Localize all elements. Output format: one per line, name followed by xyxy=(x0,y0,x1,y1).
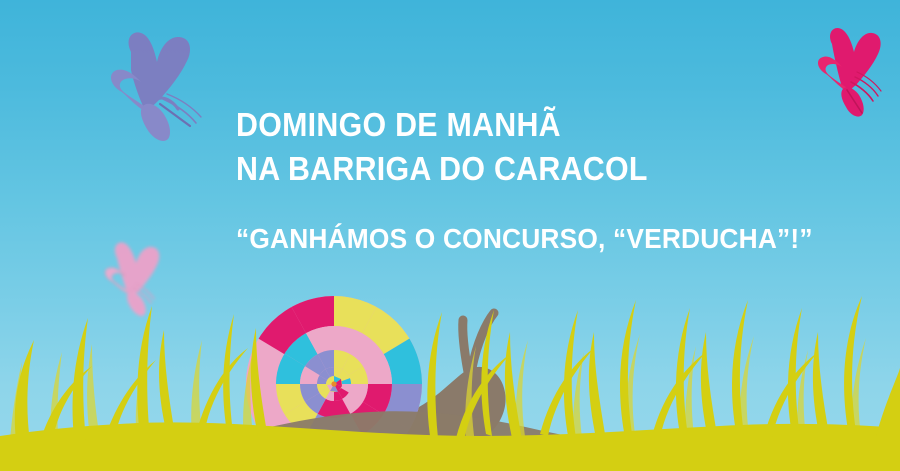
snail-illustration xyxy=(236,313,506,471)
snail-antenna-right xyxy=(472,313,494,368)
headline-line-2: NA BARRIGA DO CARACOL xyxy=(236,147,825,191)
shell-ring-2 xyxy=(234,284,434,471)
headline-line-1: DOMINGO DE MANHÃ xyxy=(236,103,825,147)
butterfly-purple-icon xyxy=(111,32,201,141)
poster-subtitle: “GANHÁMOS O CONCURSO, “VERDUCHA”!” xyxy=(236,221,838,257)
shell-ring-3 xyxy=(274,324,394,444)
poster-canvas: DOMINGO DE MANHÃ NA BARRIGA DO CARACOL “… xyxy=(0,0,900,471)
shell-ring-outer xyxy=(214,264,454,471)
shell-ring-4 xyxy=(304,354,364,414)
headline-block: DOMINGO DE MANHÃ NA BARRIGA DO CARACOL “… xyxy=(236,103,876,257)
snail-shell-spiral xyxy=(214,264,454,471)
snail-antenna-left xyxy=(463,320,468,372)
ground-mound xyxy=(0,411,900,471)
butterfly-pink-icon xyxy=(105,242,159,316)
grass-back-layer xyxy=(8,334,868,471)
shell-center xyxy=(326,376,342,392)
grass-baseline xyxy=(0,466,900,471)
grass-front-layer xyxy=(0,296,900,471)
snail-body xyxy=(236,367,506,471)
